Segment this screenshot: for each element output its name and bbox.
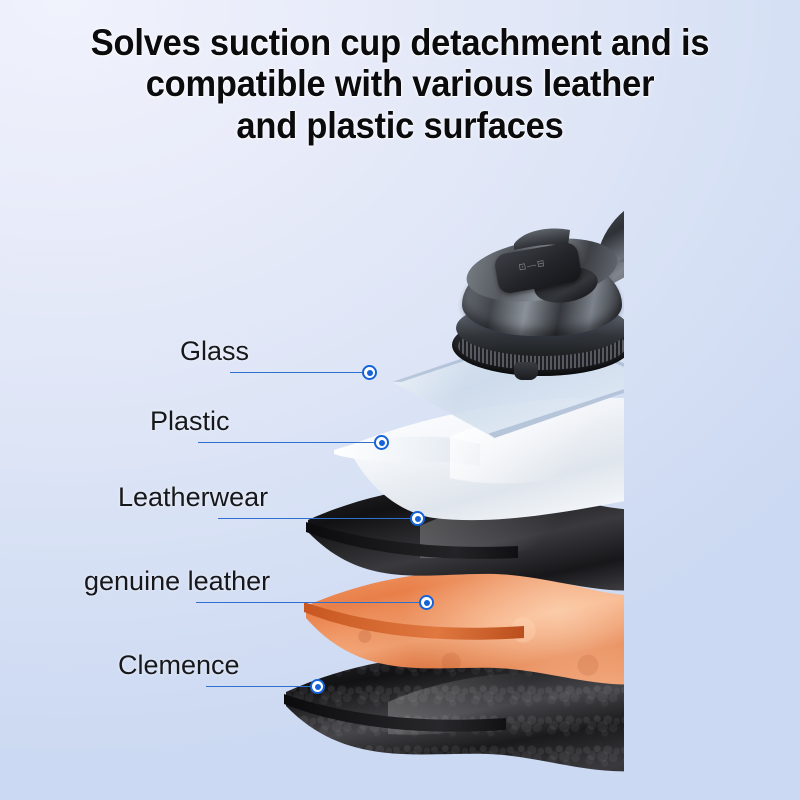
callout-marker-glass[interactable] <box>362 365 377 380</box>
callout-leader-plastic <box>198 442 380 443</box>
callout-marker-leatherwear[interactable] <box>410 511 425 526</box>
callout-leader-genuine-leather <box>196 602 424 603</box>
suction-cup-mount: ⊡—⊟ <box>430 196 624 396</box>
callout-leader-leatherwear <box>218 518 416 519</box>
callout-leader-clemence <box>206 686 316 687</box>
device-release-tab <box>514 362 538 380</box>
callout-label-leatherwear: Leatherwear <box>118 482 268 513</box>
callout-leader-glass <box>230 372 368 373</box>
callout-label-plastic: Plastic <box>150 406 230 437</box>
callout-label-genuine-leather: genuine leather <box>84 566 270 597</box>
callout-marker-genuine-leather[interactable] <box>419 595 434 610</box>
callout-label-glass: Glass <box>180 336 249 367</box>
callout-label-clemence: Clemence <box>118 650 240 681</box>
product-infographic: Solves suction cup detachment and is com… <box>0 0 800 800</box>
callout-marker-plastic[interactable] <box>374 435 389 450</box>
callout-marker-clemence[interactable] <box>310 679 325 694</box>
